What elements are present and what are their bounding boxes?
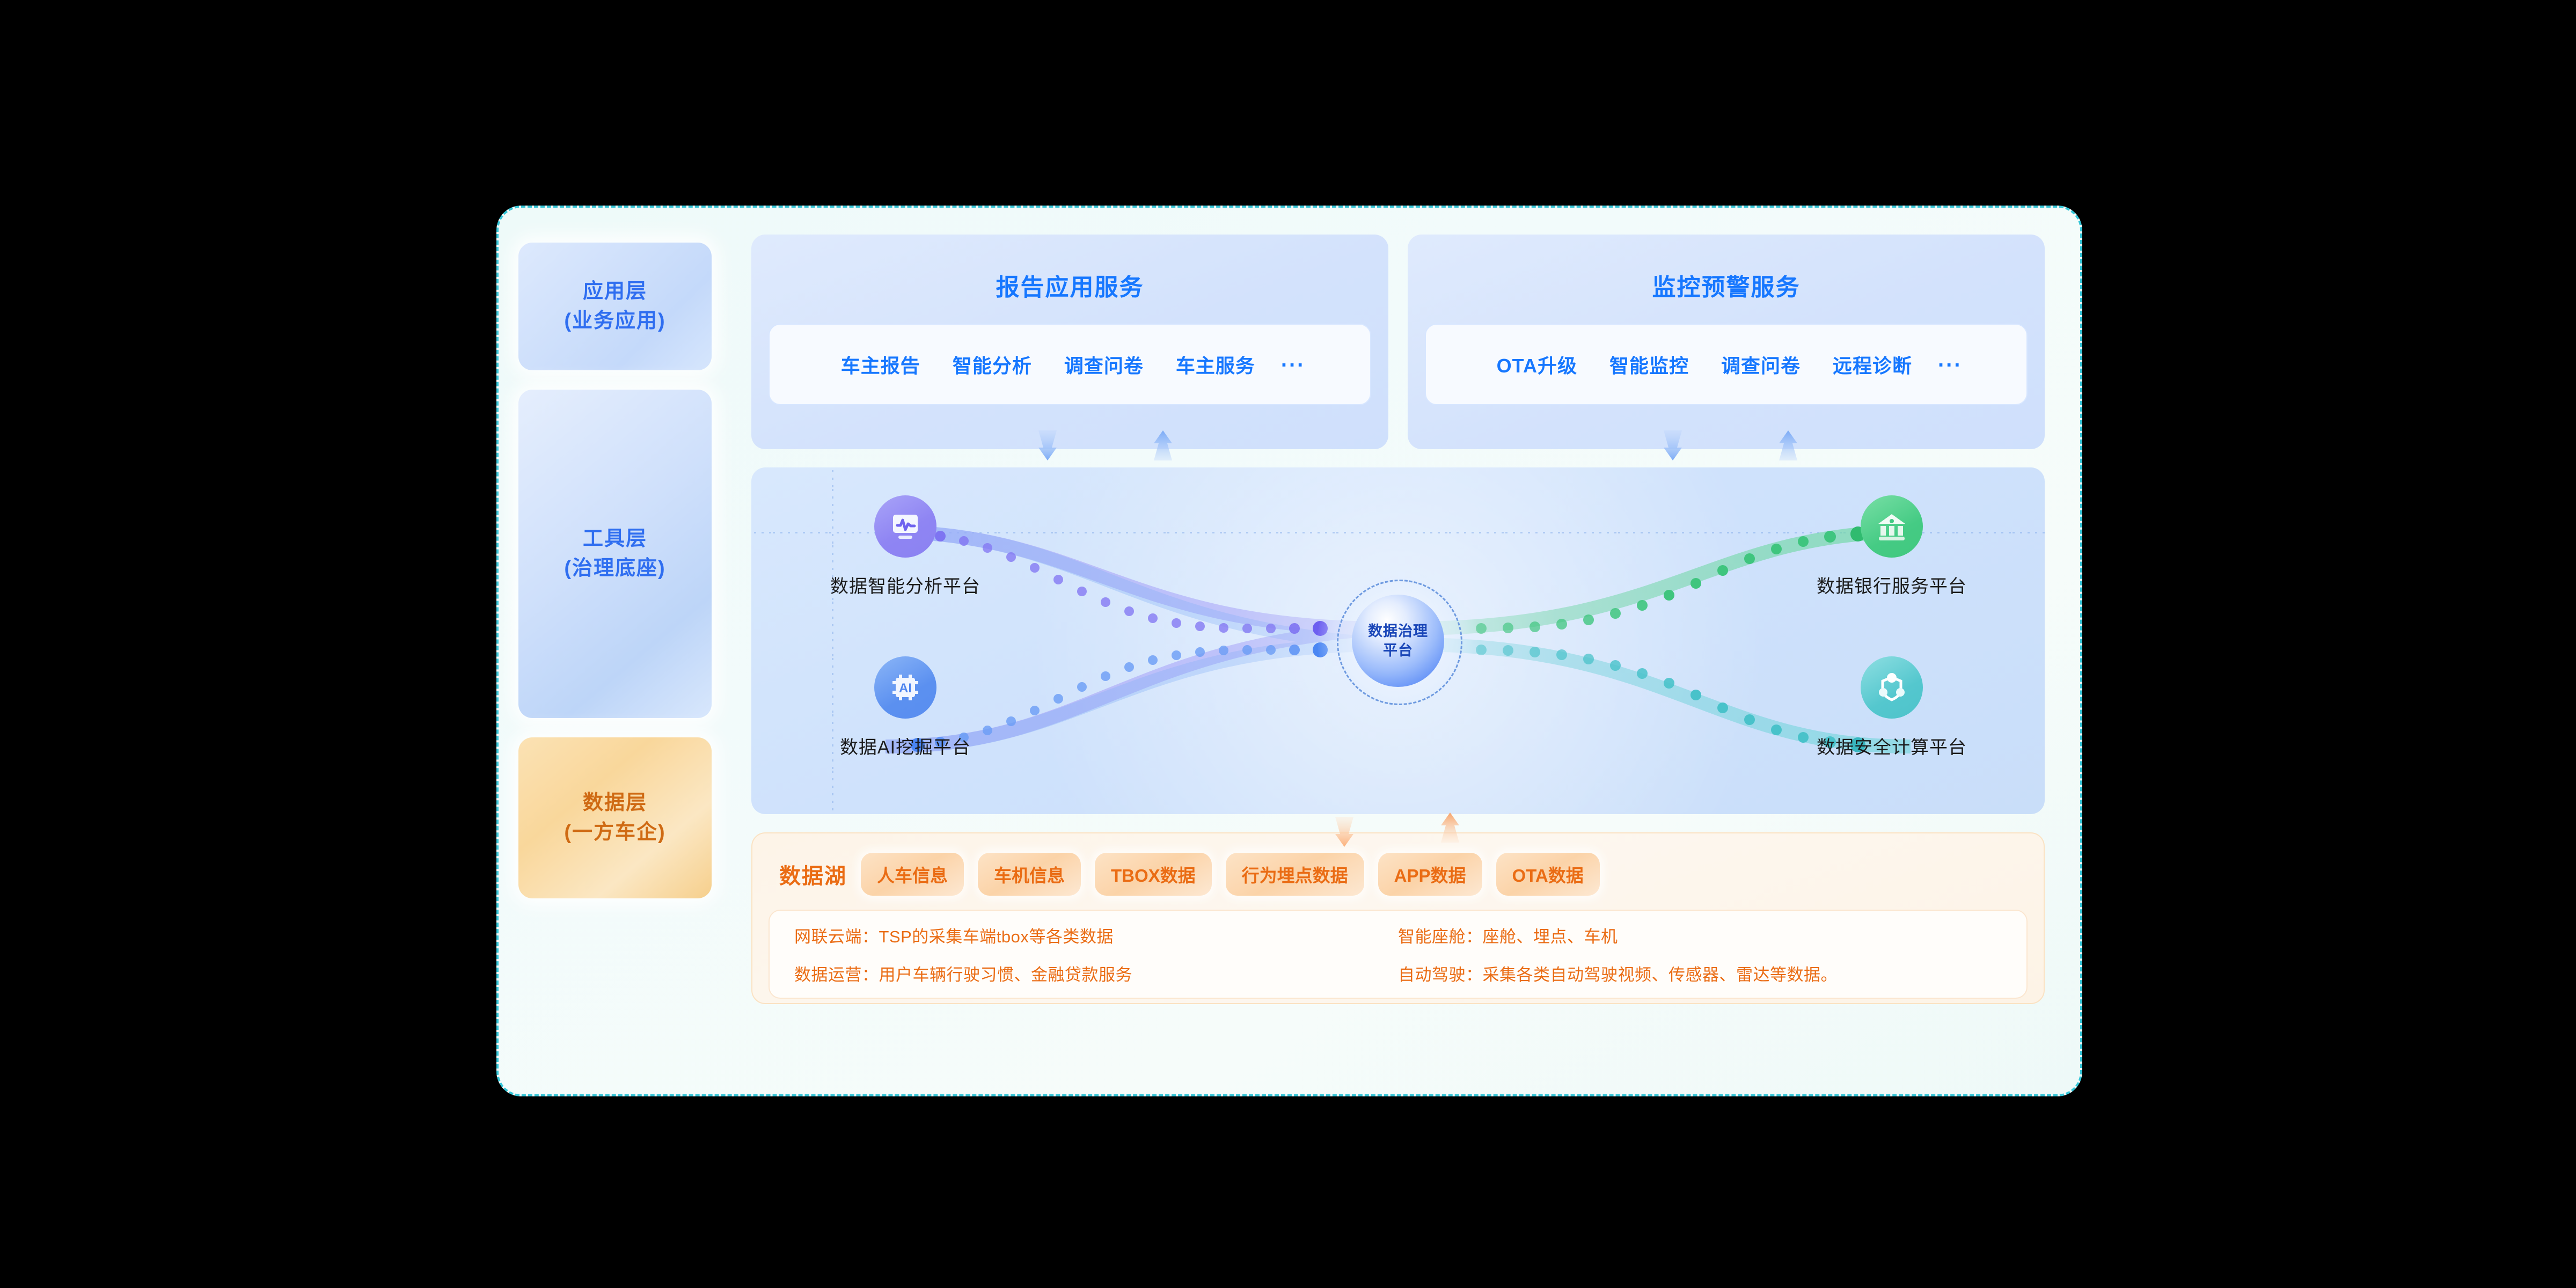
application-services-row: 报告应用服务 车主报告 智能分析 调查问卷 车主服务 ... 监控预警服务 OT… <box>751 235 2045 449</box>
service-card-monitor-tagbar: OTA升级 智能监控 调查问卷 远程诊断 ... <box>1425 324 2028 405</box>
layer-application-subtitle: (业务应用) <box>564 306 665 336</box>
service-tag[interactable]: 调查问卷 <box>1048 350 1160 378</box>
data-lake-tag[interactable]: APP数据 <box>1378 853 1482 896</box>
arrow-up-blue-monitor <box>1774 429 1803 462</box>
service-tag[interactable]: 车主报告 <box>825 350 936 378</box>
layer-card-data[interactable]: 数据层 (一方车企) <box>518 737 712 898</box>
data-lake-title: 数据湖 <box>779 859 847 890</box>
platform-node-bank[interactable]: 数据银行服务平台 <box>1803 495 1980 598</box>
diagram-canvas: 应用层 (业务应用) 工具层 (治理底座) 数据层 (一方车企) 报告应用服务 … <box>0 0 2576 1288</box>
data-lake-tag[interactable]: 行为埋点数据 <box>1226 853 1364 896</box>
platform-label-ai: 数据AI挖掘平台 <box>840 733 971 759</box>
layer-tool-subtitle: (治理底座) <box>564 554 665 583</box>
service-tag[interactable]: 远程诊断 <box>1817 350 1928 378</box>
bank-building-icon <box>1861 495 1923 558</box>
service-tag[interactable]: 智能分析 <box>936 350 1048 378</box>
service-tag[interactable]: 调查问卷 <box>1705 350 1817 378</box>
layer-data-title: 数据层 <box>583 788 647 818</box>
data-lake-left-column: 网联云端：TSP的采集车端tbox等各类数据 数据运营：用户车辆行驶习惯、金融贷… <box>794 923 1398 985</box>
arrow-up-orange-lake <box>1436 811 1465 844</box>
monitor-pulse-icon <box>874 495 936 558</box>
arrow-down-blue-report <box>1033 429 1062 462</box>
arrow-down-blue-monitor <box>1658 429 1687 462</box>
hub-title-line2: 平台 <box>1383 641 1413 660</box>
platform-label-bank: 数据银行服务平台 <box>1817 572 1967 598</box>
service-tag-more[interactable]: ... <box>1928 348 1972 382</box>
arrow-down-orange-lake <box>1330 816 1359 848</box>
tool-layer-panel: 数据治理 平台 数据智能分析平台 <box>751 467 2045 814</box>
layer-data-subtitle: (一方车企) <box>564 818 665 847</box>
service-tag-more[interactable]: ... <box>1271 348 1315 382</box>
data-lake-tag[interactable]: 车机信息 <box>978 853 1081 896</box>
layer-card-application[interactable]: 应用层 (业务应用) <box>518 243 712 370</box>
layer-column: 应用层 (业务应用) 工具层 (治理底座) 数据层 (一方车企) <box>518 243 712 898</box>
svg-text:AI: AI <box>899 681 912 696</box>
data-lake-line: 网联云端：TSP的采集车端tbox等各类数据 <box>794 923 1398 947</box>
layer-card-tool[interactable]: 工具层 (治理底座) <box>518 390 712 718</box>
service-tag[interactable]: 智能监控 <box>1593 350 1705 378</box>
layer-tool-title: 工具层 <box>583 524 647 554</box>
platform-node-analysis[interactable]: 数据智能分析平台 <box>817 495 994 598</box>
service-tag[interactable]: 车主服务 <box>1160 350 1271 378</box>
data-lake-tag[interactable]: TBOX数据 <box>1095 853 1212 896</box>
content-column: 报告应用服务 车主报告 智能分析 调查问卷 车主服务 ... 监控预警服务 OT… <box>751 235 2045 1004</box>
arrow-up-blue-report <box>1148 429 1177 462</box>
data-lake-line: 智能座舱：座舱、埋点、车机 <box>1398 923 2002 947</box>
data-lake-panel: 数据湖 人车信息 车机信息 TBOX数据 行为埋点数据 APP数据 OTA数据 … <box>751 832 2045 1004</box>
shield-network-icon <box>1861 656 1923 719</box>
hub-title-line1: 数据治理 <box>1368 621 1428 641</box>
data-lake-line: 自动驾驶：采集各类自动驾驶视频、传感器、雷达等数据。 <box>1398 961 2002 985</box>
service-card-monitor[interactable]: 监控预警服务 OTA升级 智能监控 调查问卷 远程诊断 ... <box>1408 235 2045 449</box>
service-card-report-title: 报告应用服务 <box>996 268 1144 302</box>
data-lake-tag[interactable]: 人车信息 <box>861 853 964 896</box>
hub-sphere: 数据治理 平台 <box>1352 595 1444 687</box>
platform-node-ai[interactable]: AI 数据AI挖掘平台 <box>817 656 994 759</box>
platform-node-security[interactable]: 数据安全计算平台 <box>1803 656 1980 759</box>
data-lake-description: 网联云端：TSP的采集车端tbox等各类数据 数据运营：用户车辆行驶习惯、金融贷… <box>769 910 2028 999</box>
data-lake-tag[interactable]: OTA数据 <box>1496 853 1600 896</box>
service-card-report-tagbar: 车主报告 智能分析 调查问卷 车主服务 ... <box>769 324 1371 405</box>
data-lake-header: 数据湖 人车信息 车机信息 TBOX数据 行为埋点数据 APP数据 OTA数据 <box>769 848 2028 896</box>
data-lake-right-column: 智能座舱：座舱、埋点、车机 自动驾驶：采集各类自动驾驶视频、传感器、雷达等数据。 <box>1398 923 2002 985</box>
service-card-monitor-title: 监控预警服务 <box>1652 268 1801 302</box>
data-lake-line: 数据运营：用户车辆行驶习惯、金融贷款服务 <box>794 961 1398 985</box>
service-card-report[interactable]: 报告应用服务 车主报告 智能分析 调查问卷 车主服务 ... <box>751 235 1388 449</box>
layer-application-title: 应用层 <box>583 277 647 306</box>
platform-label-security: 数据安全计算平台 <box>1817 733 1967 759</box>
central-hub[interactable]: 数据治理 平台 <box>1318 560 1479 721</box>
ai-chip-icon: AI <box>874 656 936 719</box>
platform-label-analysis: 数据智能分析平台 <box>830 572 980 598</box>
service-tag[interactable]: OTA升级 <box>1481 350 1593 378</box>
